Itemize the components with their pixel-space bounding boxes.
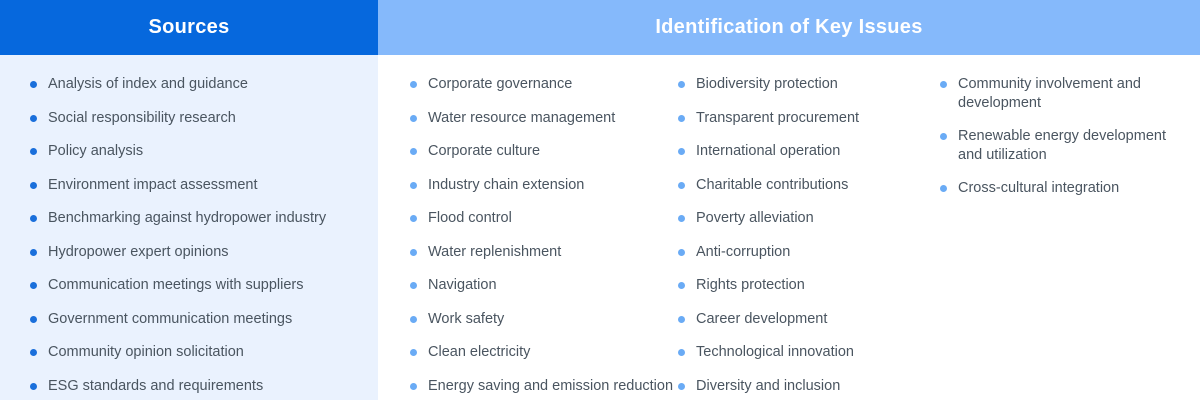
list-item[interactable]: Transparent procurement <box>678 109 940 128</box>
bullet-dot-icon <box>30 182 37 189</box>
bullet-dot-icon <box>30 383 37 390</box>
list-item[interactable]: Flood control <box>410 209 678 228</box>
list-item-label: ESG standards and requirements <box>48 377 263 396</box>
list-item[interactable]: Clean electricity <box>410 343 678 362</box>
list-item-label: Work safety <box>428 310 504 329</box>
list-item-label: Social responsibility research <box>48 109 236 128</box>
list-item-label: Diversity and inclusion <box>696 377 840 396</box>
bullet-dot-icon <box>678 115 685 122</box>
list-item[interactable]: Renewable energy development and utiliza… <box>940 127 1190 164</box>
list-item-label: Charitable contributions <box>696 176 848 195</box>
bullet-dot-icon <box>678 81 685 88</box>
bullet-dot-icon <box>410 148 417 155</box>
list-item[interactable]: Water replenishment <box>410 243 678 262</box>
bullet-dot-icon <box>678 349 685 356</box>
bullet-dot-icon <box>30 215 37 222</box>
list-item-label: Industry chain extension <box>428 176 584 195</box>
list-item[interactable]: Technological innovation <box>678 343 940 362</box>
list-item-label: Environment impact assessment <box>48 176 258 195</box>
list-item-label: Technological innovation <box>696 343 854 362</box>
list-item[interactable]: Hydropower expert opinions <box>30 243 366 262</box>
bullet-dot-icon <box>410 249 417 256</box>
list-item-label: Benchmarking against hydropower industry <box>48 209 326 228</box>
bullet-dot-icon <box>678 282 685 289</box>
key-issues-column-1: Corporate governanceWater resource manag… <box>410 75 678 410</box>
list-item-label: Clean electricity <box>428 343 530 362</box>
list-item-label: Renewable energy development and utiliza… <box>958 127 1190 164</box>
list-item[interactable]: Corporate culture <box>410 142 678 161</box>
bullet-dot-icon <box>410 349 417 356</box>
list-item-label: International operation <box>696 142 840 161</box>
bullet-dot-icon <box>410 383 417 390</box>
bullet-dot-icon <box>410 81 417 88</box>
list-item[interactable]: Anti-corruption <box>678 243 940 262</box>
list-item-label: Water resource management <box>428 109 615 128</box>
bullet-dot-icon <box>410 316 417 323</box>
list-item-label: Biodiversity protection <box>696 75 838 94</box>
bullet-dot-icon <box>410 115 417 122</box>
list-item[interactable]: Communication meetings with suppliers <box>30 276 366 295</box>
sources-panel-header: Sources <box>0 0 378 55</box>
key-issues-column-2: Biodiversity protectionTransparent procu… <box>678 75 940 410</box>
list-item[interactable]: Diversity and inclusion <box>678 377 940 396</box>
list-item[interactable]: Navigation <box>410 276 678 295</box>
bullet-dot-icon <box>30 148 37 155</box>
list-item-label: Rights protection <box>696 276 805 295</box>
bullet-dot-icon <box>940 81 947 88</box>
bullet-dot-icon <box>678 215 685 222</box>
list-item[interactable]: Community involvement and development <box>940 75 1190 112</box>
bullet-dot-icon <box>30 282 37 289</box>
key-issues-columns: Corporate governanceWater resource manag… <box>378 55 1200 410</box>
bullet-dot-icon <box>678 148 685 155</box>
list-item-label: Navigation <box>428 276 497 295</box>
list-item-label: Corporate culture <box>428 142 540 161</box>
list-item[interactable]: Government communication meetings <box>30 310 366 329</box>
bullet-dot-icon <box>410 282 417 289</box>
key-issues-panel-title: Identification of Key Issues <box>655 16 922 39</box>
list-item[interactable]: Charitable contributions <box>678 176 940 195</box>
list-item-label: Community opinion solicitation <box>48 343 244 362</box>
sources-list: Analysis of index and guidanceSocial res… <box>0 55 378 395</box>
key-issues-panel-header: Identification of Key Issues <box>378 0 1200 55</box>
list-item-label: Flood control <box>428 209 512 228</box>
bullet-dot-icon <box>30 249 37 256</box>
list-item[interactable]: Environment impact assessment <box>30 176 366 195</box>
list-item-label: Anti-corruption <box>696 243 790 262</box>
bullet-dot-icon <box>410 215 417 222</box>
list-item[interactable]: Cross-cultural integration <box>940 179 1190 198</box>
bullet-dot-icon <box>30 349 37 356</box>
list-item[interactable]: Community opinion solicitation <box>30 343 366 362</box>
list-item-label: Poverty alleviation <box>696 209 814 228</box>
bullet-dot-icon <box>410 182 417 189</box>
list-item-label: Water replenishment <box>428 243 561 262</box>
sources-panel: Sources Analysis of index and guidanceSo… <box>0 0 378 400</box>
bullet-dot-icon <box>30 115 37 122</box>
list-item-label: Policy analysis <box>48 142 143 161</box>
list-item[interactable]: Water resource management <box>410 109 678 128</box>
bullet-dot-icon <box>30 81 37 88</box>
key-issues-column-3: Community involvement and developmentRen… <box>940 75 1190 213</box>
list-item[interactable]: Policy analysis <box>30 142 366 161</box>
bullet-dot-icon <box>678 316 685 323</box>
list-item[interactable]: Benchmarking against hydropower industry <box>30 209 366 228</box>
list-item[interactable]: Analysis of index and guidance <box>30 75 366 94</box>
list-item[interactable]: Poverty alleviation <box>678 209 940 228</box>
bullet-dot-icon <box>940 133 947 140</box>
list-item[interactable]: Energy saving and emission reduction <box>410 377 678 396</box>
bullet-dot-icon <box>30 316 37 323</box>
list-item[interactable]: Social responsibility research <box>30 109 366 128</box>
list-item-label: Transparent procurement <box>696 109 859 128</box>
list-item-label: Government communication meetings <box>48 310 292 329</box>
sources-to-key-issues-diagram: Sources Analysis of index and guidanceSo… <box>0 0 1200 400</box>
list-item[interactable]: Industry chain extension <box>410 176 678 195</box>
list-item[interactable]: Career development <box>678 310 940 329</box>
list-item[interactable]: Biodiversity protection <box>678 75 940 94</box>
list-item-label: Community involvement and development <box>958 75 1190 112</box>
list-item[interactable]: ESG standards and requirements <box>30 377 366 396</box>
list-item-label: Analysis of index and guidance <box>48 75 248 94</box>
bullet-dot-icon <box>678 182 685 189</box>
list-item-label: Cross-cultural integration <box>958 179 1119 198</box>
key-issues-panel: Identification of Key Issues Corporate g… <box>378 0 1200 400</box>
list-item[interactable]: Corporate governance <box>410 75 678 94</box>
bullet-dot-icon <box>678 249 685 256</box>
list-item-label: Hydropower expert opinions <box>48 243 229 262</box>
bullet-dot-icon <box>940 185 947 192</box>
list-item[interactable]: Work safety <box>410 310 678 329</box>
list-item-label: Communication meetings with suppliers <box>48 276 303 295</box>
list-item-label: Energy saving and emission reduction <box>428 377 673 396</box>
list-item[interactable]: Rights protection <box>678 276 940 295</box>
list-item-label: Corporate governance <box>428 75 572 94</box>
list-item-label: Career development <box>696 310 827 329</box>
list-item[interactable]: International operation <box>678 142 940 161</box>
sources-panel-title: Sources <box>148 16 229 39</box>
bullet-dot-icon <box>678 383 685 390</box>
